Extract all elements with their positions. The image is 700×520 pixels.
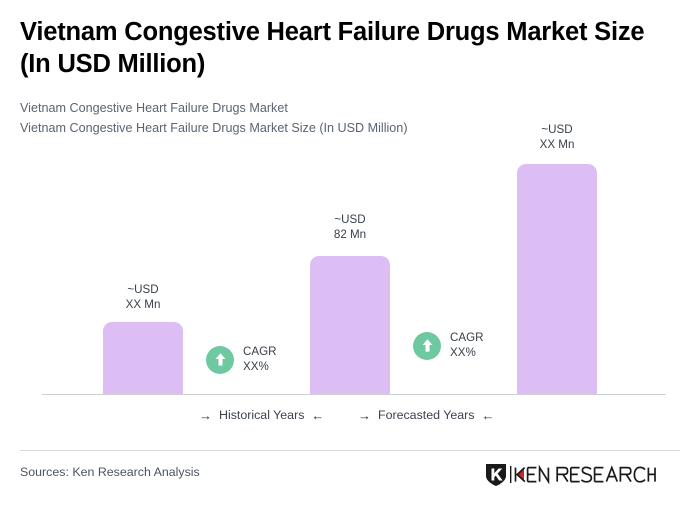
bar-value-label-2-line1: ~USD: [334, 213, 365, 226]
legend-historical-years-label: Historical Years: [219, 408, 304, 422]
legend-historical-years: → Historical Years ←: [199, 408, 324, 422]
legend-forecasted-years: → Forecasted Years ←: [358, 408, 494, 422]
legend-forecasted-years-label: Forecasted Years: [378, 408, 474, 422]
arrow-left-icon: ←: [311, 409, 324, 422]
bar-2[interactable]: [310, 256, 390, 394]
bar-value-label-2: ~USD 82 Mn: [310, 213, 390, 243]
arrow-up-icon: [206, 346, 234, 374]
bar-value-label-1-line2: XX Mn: [126, 298, 161, 311]
arrow-right-icon: →: [199, 409, 212, 422]
bar-value-label-1: ~USD XX Mn: [103, 283, 183, 313]
sources-text: Sources: Ken Research Analysis: [20, 465, 200, 479]
ken-research-logo: [484, 463, 656, 487]
cagr-label-1-line2: XX%: [243, 360, 269, 373]
bar-value-label-1-line1: ~USD: [127, 283, 158, 296]
cagr-marker-2: CAGR XX%: [413, 331, 484, 361]
bar-value-label-2-line2: 82 Mn: [334, 228, 366, 241]
cagr-label-1: CAGR XX%: [243, 345, 277, 375]
arrow-right-icon: →: [358, 409, 371, 422]
arrow-up-icon: [413, 332, 441, 360]
bar-value-label-3: ~USD XX Mn: [517, 123, 597, 153]
cagr-label-1-line1: CAGR: [243, 345, 277, 358]
cagr-marker-1: CAGR XX%: [206, 345, 277, 375]
bar-3[interactable]: [517, 164, 597, 394]
bar-value-label-3-line2: XX Mn: [540, 138, 575, 151]
cagr-label-2-line1: CAGR: [450, 331, 484, 344]
cagr-label-2: CAGR XX%: [450, 331, 484, 361]
chart-page: Vietnam Congestive Heart Failure Drugs M…: [0, 0, 700, 520]
footer-divider: [20, 450, 680, 451]
arrow-left-icon: ←: [481, 409, 494, 422]
year-band-legend: → Historical Years ← → Forecasted Years …: [0, 408, 700, 430]
bar-1[interactable]: [103, 322, 183, 394]
bar-value-label-3-line1: ~USD: [541, 123, 572, 136]
chart-plot-area: ~USD XX Mn CAGR XX% ~USD 82 Mn: [0, 0, 700, 440]
axis-baseline: [42, 394, 666, 395]
cagr-label-2-line2: XX%: [450, 346, 476, 359]
